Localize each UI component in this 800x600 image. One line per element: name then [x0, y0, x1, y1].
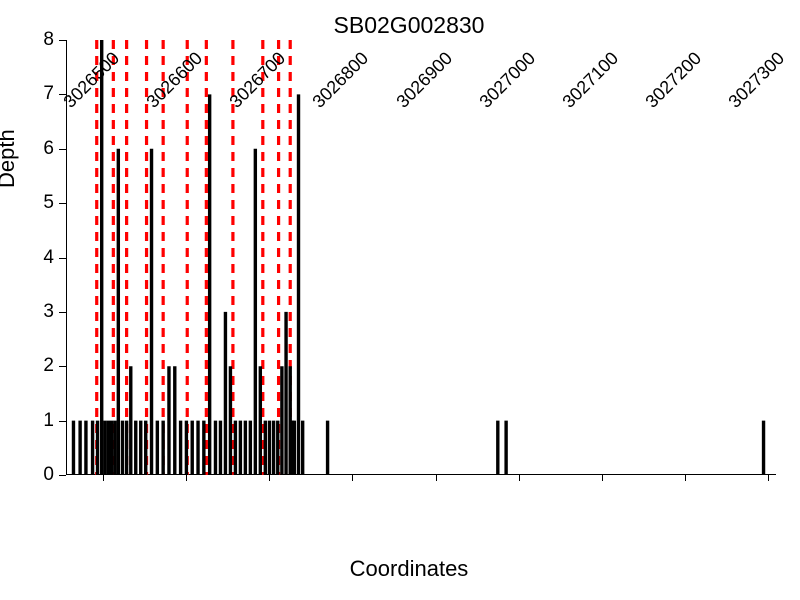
depth-bars	[66, 40, 776, 475]
y-tick-mark	[59, 258, 66, 259]
x-tick-mark	[186, 475, 187, 481]
y-tick-label: 5	[14, 192, 54, 214]
x-tick-mark	[768, 475, 769, 481]
x-tick-mark	[436, 475, 437, 481]
x-tick-mark	[519, 475, 520, 481]
x-tick-mark	[602, 475, 603, 481]
y-tick-label: 4	[14, 247, 54, 269]
y-tick-mark	[59, 421, 66, 422]
y-tick-label: 2	[14, 355, 54, 377]
y-tick-mark	[59, 40, 66, 41]
y-tick-mark	[59, 149, 66, 150]
y-tick-label: 1	[14, 410, 54, 432]
x-tick-mark	[685, 475, 686, 481]
y-tick-mark	[59, 366, 66, 367]
x-axis-label: Coordinates	[42, 556, 776, 582]
plot-area: 0123456783026500302660030267003026800302…	[66, 40, 776, 475]
y-tick-label: 3	[14, 301, 54, 323]
y-tick-mark	[59, 94, 66, 95]
y-tick-label: 6	[14, 138, 54, 160]
chart-title: SB02G002830	[42, 12, 776, 39]
y-tick-label: 7	[14, 83, 54, 105]
x-tick-mark	[269, 475, 270, 481]
y-tick-mark	[59, 203, 66, 204]
y-axis-label: Depth	[0, 129, 20, 188]
y-tick-mark	[59, 312, 66, 313]
figure: SB02G002830 Depth Coordinates 0123456783…	[0, 0, 800, 600]
y-tick-label: 0	[14, 464, 54, 486]
y-tick-mark	[59, 475, 66, 476]
x-tick-mark	[103, 475, 104, 481]
x-tick-mark	[352, 475, 353, 481]
